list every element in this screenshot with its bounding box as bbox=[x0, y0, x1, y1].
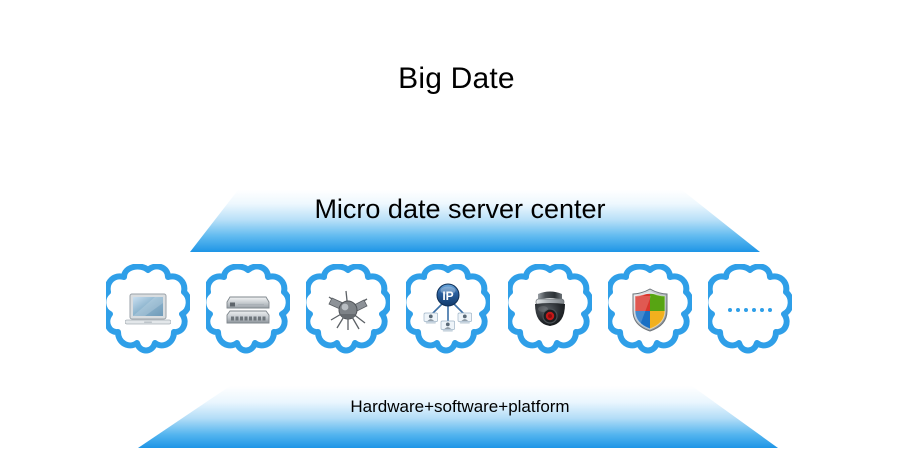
ellipsis-dot bbox=[752, 308, 756, 312]
cloud-node-satellite[interactable] bbox=[306, 264, 390, 356]
cloud-row: IP bbox=[106, 264, 806, 356]
server-rack-icon bbox=[222, 286, 274, 334]
cloud-node-ip-network[interactable]: IP bbox=[406, 264, 490, 356]
micro-date-server-center-band bbox=[160, 190, 760, 258]
hardware-software-platform-band bbox=[120, 386, 800, 468]
cloud-node-server[interactable] bbox=[206, 264, 290, 356]
ellipsis-dot bbox=[760, 308, 764, 312]
ellipsis-dots bbox=[728, 308, 772, 312]
svg-text:IP: IP bbox=[442, 289, 453, 303]
ellipsis-dot bbox=[768, 308, 772, 312]
bottom-band-shape bbox=[138, 386, 778, 448]
cloud-node-shield[interactable] bbox=[608, 264, 692, 356]
laptop-icon bbox=[122, 286, 174, 334]
ellipsis-icon bbox=[724, 286, 776, 334]
cloud-node-more[interactable] bbox=[708, 264, 792, 356]
cloud-node-laptop[interactable] bbox=[106, 264, 190, 356]
dome-camera-icon bbox=[524, 286, 576, 334]
top-band-shape bbox=[190, 190, 760, 252]
shield-icon bbox=[624, 286, 676, 334]
satellite-icon bbox=[322, 286, 374, 334]
page-title: Big Date bbox=[0, 62, 913, 96]
ip-network-icon: IP bbox=[416, 280, 480, 338]
ellipsis-dot bbox=[736, 308, 740, 312]
diagram-canvas: Big Date Micro date server center bbox=[0, 0, 913, 474]
ellipsis-dot bbox=[728, 308, 732, 312]
cloud-node-camera[interactable] bbox=[508, 264, 592, 356]
ellipsis-dot bbox=[744, 308, 748, 312]
